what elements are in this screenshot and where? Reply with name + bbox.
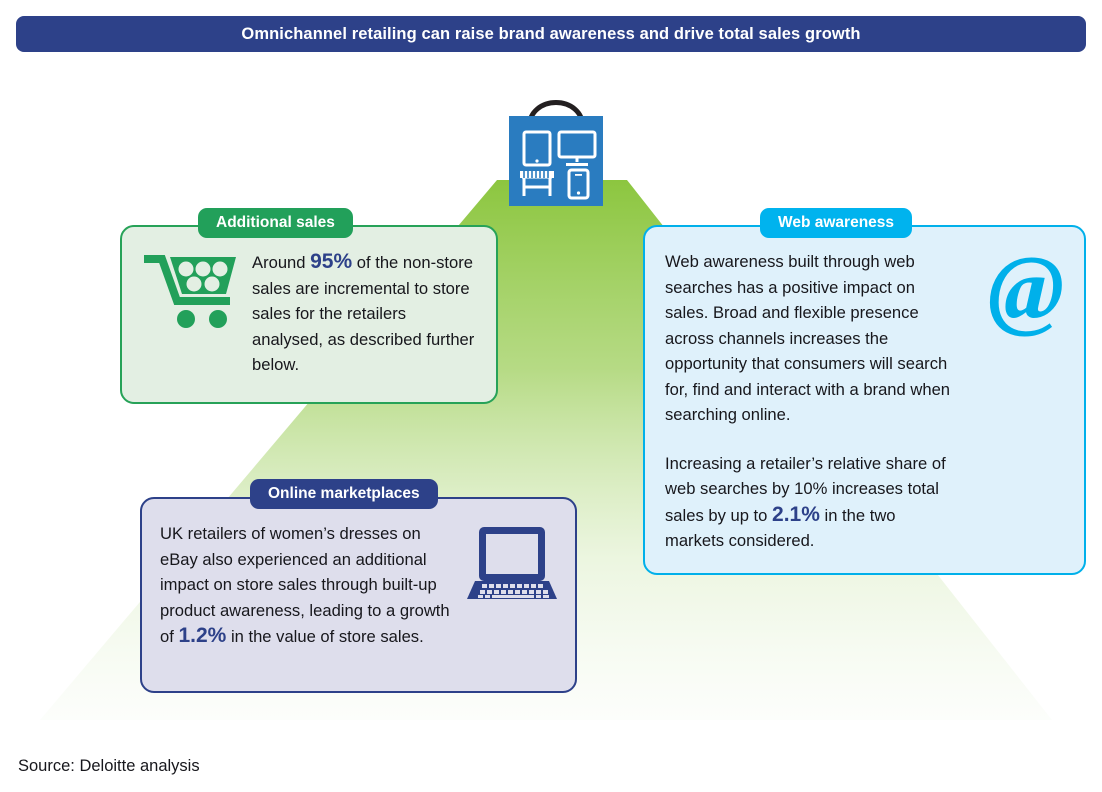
text-before-stat: Around (252, 253, 310, 272)
page-title: Omnichannel retailing can raise brand aw… (241, 25, 860, 44)
tab-web-awareness[interactable]: Web awareness (760, 208, 912, 238)
p2-stat-value: 2.1% (772, 503, 820, 526)
shopping-bag-omnichannel-icon (495, 88, 617, 210)
web-awareness-paragraph-2: Increasing a retailer’s relative share o… (665, 451, 957, 554)
stat-value: 1.2% (178, 624, 226, 647)
laptop-icon (465, 521, 565, 612)
card-web-awareness: @ Web awareness built through web search… (643, 225, 1086, 575)
tab-online-marketplaces[interactable]: Online marketplaces (250, 479, 438, 509)
card-additional-sales: Around 95% of the non-store sales are in… (120, 225, 498, 404)
stat-value: 95% (310, 250, 352, 273)
web-awareness-body: Web awareness built through web searches… (665, 249, 1075, 554)
card-online-marketplaces: UK retailers of women’s dresses on eBay … (140, 497, 577, 693)
text-after-stat: in the value of store sales. (226, 627, 423, 646)
tab-additional-sales[interactable]: Additional sales (198, 208, 353, 238)
online-marketplaces-body: UK retailers of women’s dresses on eBay … (160, 521, 565, 650)
tab-additional-sales-label: Additional sales (216, 214, 335, 232)
shopping-cart-icon (144, 249, 240, 334)
additional-sales-body: Around 95% of the non-store sales are in… (144, 249, 484, 378)
source-note: Source: Deloitte analysis (18, 757, 200, 776)
tab-online-marketplaces-label: Online marketplaces (268, 485, 420, 503)
online-marketplaces-text: UK retailers of women’s dresses on eBay … (160, 521, 459, 650)
header-banner: Omnichannel retailing can raise brand aw… (16, 16, 1086, 52)
additional-sales-text: Around 95% of the non-store sales are in… (252, 249, 480, 378)
tab-web-awareness-label: Web awareness (778, 214, 894, 232)
web-awareness-paragraph-1: Web awareness built through web searches… (665, 249, 957, 428)
